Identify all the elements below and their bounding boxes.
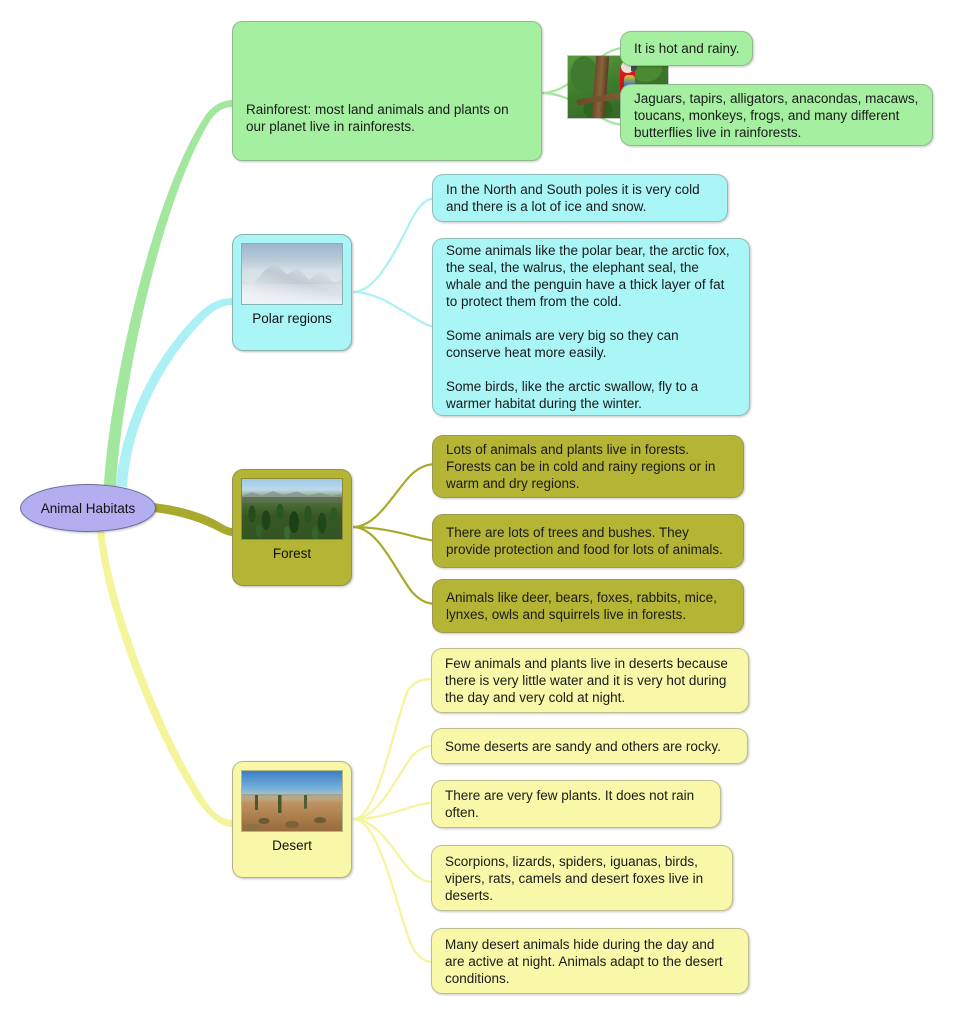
leaf-desert-0[interactable]: Few animals and plants live in deserts b… [431,648,749,713]
edge-root-desert [97,528,233,827]
polar-regions-label: Polar regions [252,311,332,326]
desert-cactus-photo [241,770,343,832]
branch-node-desert[interactable]: Desert [232,761,352,878]
forest-conifers-photo [241,478,343,540]
leaf-desert-2[interactable]: There are very few plants. It does not r… [431,780,721,828]
leaf-forest-2[interactable]: Animals like deer, bears, foxes, rabbits… [432,579,744,633]
edge-root-polar [116,298,233,487]
leaf-desert-1[interactable]: Some deserts are sandy and others are ro… [431,728,748,764]
leaf-text: Animals like deer, bears, foxes, rabbits… [446,589,731,623]
branch-node-forest[interactable]: Forest [232,469,352,586]
leaf-desert-4[interactable]: Many desert animals hide during the day … [431,928,749,994]
edge-polar-child-0 [353,198,438,292]
edge-desert-child-2 [353,803,436,819]
leaf-text: Lots of animals and plants live in fores… [446,441,731,492]
edge-desert-child-4 [353,819,436,962]
edge-root-forest [152,503,233,536]
leaf-text: Many desert animals hide during the day … [445,936,736,987]
leaf-polar-0[interactable]: In the North and South poles it is very … [432,174,728,222]
edge-desert-child-1 [353,746,436,819]
branch-node-polar-regions[interactable]: Polar regions [232,234,352,351]
edge-forest-child-2 [353,527,438,604]
leaf-text: Some animals like the polar bear, the ar… [446,242,737,412]
edge-forest-child-0 [353,464,438,527]
edge-forest-child-1 [353,527,438,541]
leaf-text: In the North and South poles it is very … [446,181,715,215]
edge-polar-child-1 [353,292,438,327]
leaf-text: It is hot and rainy. [634,40,740,57]
edge-desert-child-0 [353,679,436,819]
leaf-text: There are very few plants. It does not r… [445,787,708,821]
edge-root-rainforest [104,100,233,487]
leaf-rainforest-0[interactable]: It is hot and rainy. [620,31,753,66]
root-label: Animal Habitats [41,501,136,516]
rainforest-label: Rainforest: most land animals and plants… [246,101,531,135]
edge-desert-child-3 [353,819,436,882]
root-node[interactable]: Animal Habitats [20,484,156,532]
leaf-text: Few animals and plants live in deserts b… [445,655,736,706]
mindmap-canvas: Animal Habitats Rainforest: most land an… [0,0,953,1016]
leaf-rainforest-1[interactable]: Jaguars, tapirs, alligators, anacondas, … [620,84,933,146]
leaf-forest-1[interactable]: There are lots of trees and bushes. They… [432,514,744,568]
desert-label: Desert [272,838,312,853]
leaf-text: Scorpions, lizards, spiders, iguanas, bi… [445,853,720,904]
leaf-text: Some deserts are sandy and others are ro… [445,738,721,755]
polar-mountains-photo [241,243,343,305]
leaf-polar-1[interactable]: Some animals like the polar bear, the ar… [432,238,750,416]
leaf-text: Jaguars, tapirs, alligators, anacondas, … [634,90,920,141]
branch-node-rainforest[interactable]: Rainforest: most land animals and plants… [232,21,542,161]
leaf-desert-3[interactable]: Scorpions, lizards, spiders, iguanas, bi… [431,845,733,911]
forest-label: Forest [273,546,311,561]
leaf-text: There are lots of trees and bushes. They… [446,524,731,558]
leaf-forest-0[interactable]: Lots of animals and plants live in fores… [432,435,744,498]
